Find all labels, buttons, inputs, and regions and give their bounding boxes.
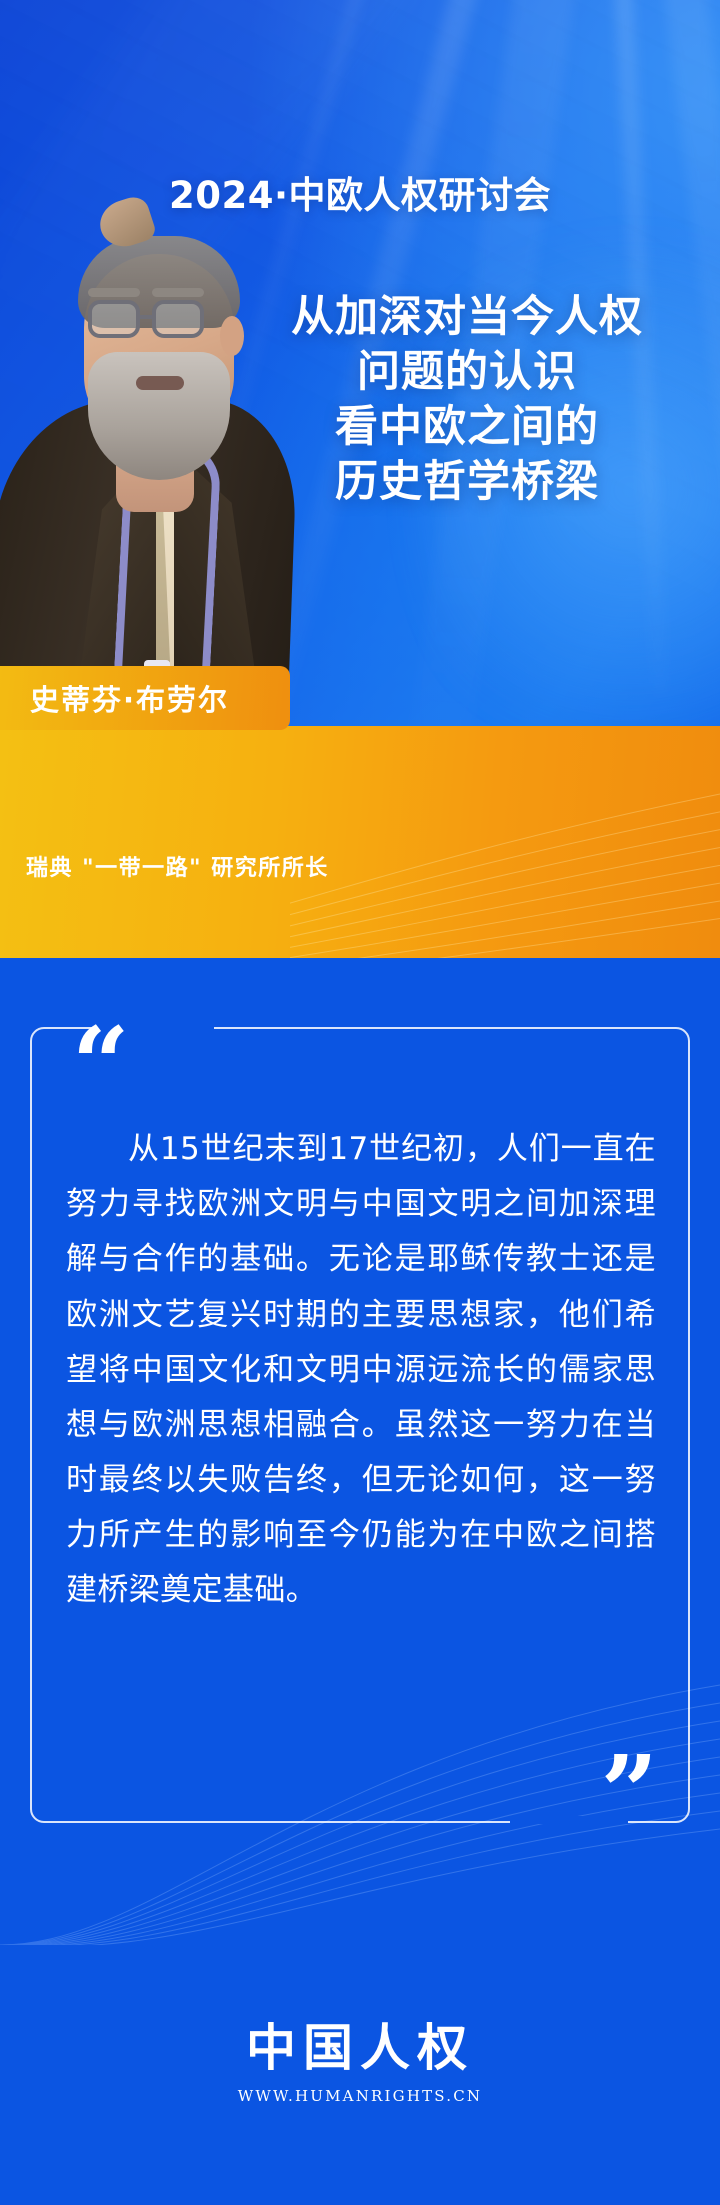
portrait-mouth: [136, 376, 184, 390]
poster-root: 2024·中欧人权研讨会 从加深对当今人权 问题的认识 看中欧之间的 历史哲学桥…: [0, 0, 720, 2205]
speaker-band: [0, 726, 720, 958]
quote-text: 从15世纪末到17世纪初，人们一直在努力寻找欧洲文明与中国文明之间加深理解与合作…: [66, 1122, 656, 1619]
quote-open-mark: “: [72, 1014, 130, 1114]
brand-logo-text: 中国人权: [0, 2020, 720, 2075]
speaker-name: 史蒂芬·布劳尔: [30, 677, 229, 719]
headline-line-3: 看中欧之间的: [242, 400, 692, 455]
brand-url: WWW.HUMANRIGHTS.CN: [0, 2087, 720, 2105]
headline-line-1: 从加深对当今人权: [242, 290, 692, 345]
portrait-glasses-right: [152, 300, 204, 338]
portrait-ear: [220, 316, 244, 356]
headline: 从加深对当今人权 问题的认识 看中欧之间的 历史哲学桥梁: [242, 290, 692, 510]
portrait-glasses-bridge: [140, 315, 154, 319]
headline-line-4: 历史哲学桥梁: [242, 455, 692, 510]
speaker-role: 瑞典 "一带一路" 研究所所长: [26, 850, 329, 882]
event-title: 2024·中欧人权研讨会: [0, 165, 720, 219]
headline-line-2: 问题的认识: [242, 345, 692, 400]
footer-logo-block: 中国人权 WWW.HUMANRIGHTS.CN: [0, 2020, 720, 2105]
portrait-brow-right: [152, 288, 204, 297]
quote-close-mark: ”: [600, 1742, 658, 1842]
portrait-brow-left: [88, 288, 140, 297]
speaker-name-tag: 史蒂芬·布劳尔: [0, 666, 290, 730]
orange-wave-lines: [290, 758, 720, 958]
portrait-glasses-left: [88, 300, 140, 338]
